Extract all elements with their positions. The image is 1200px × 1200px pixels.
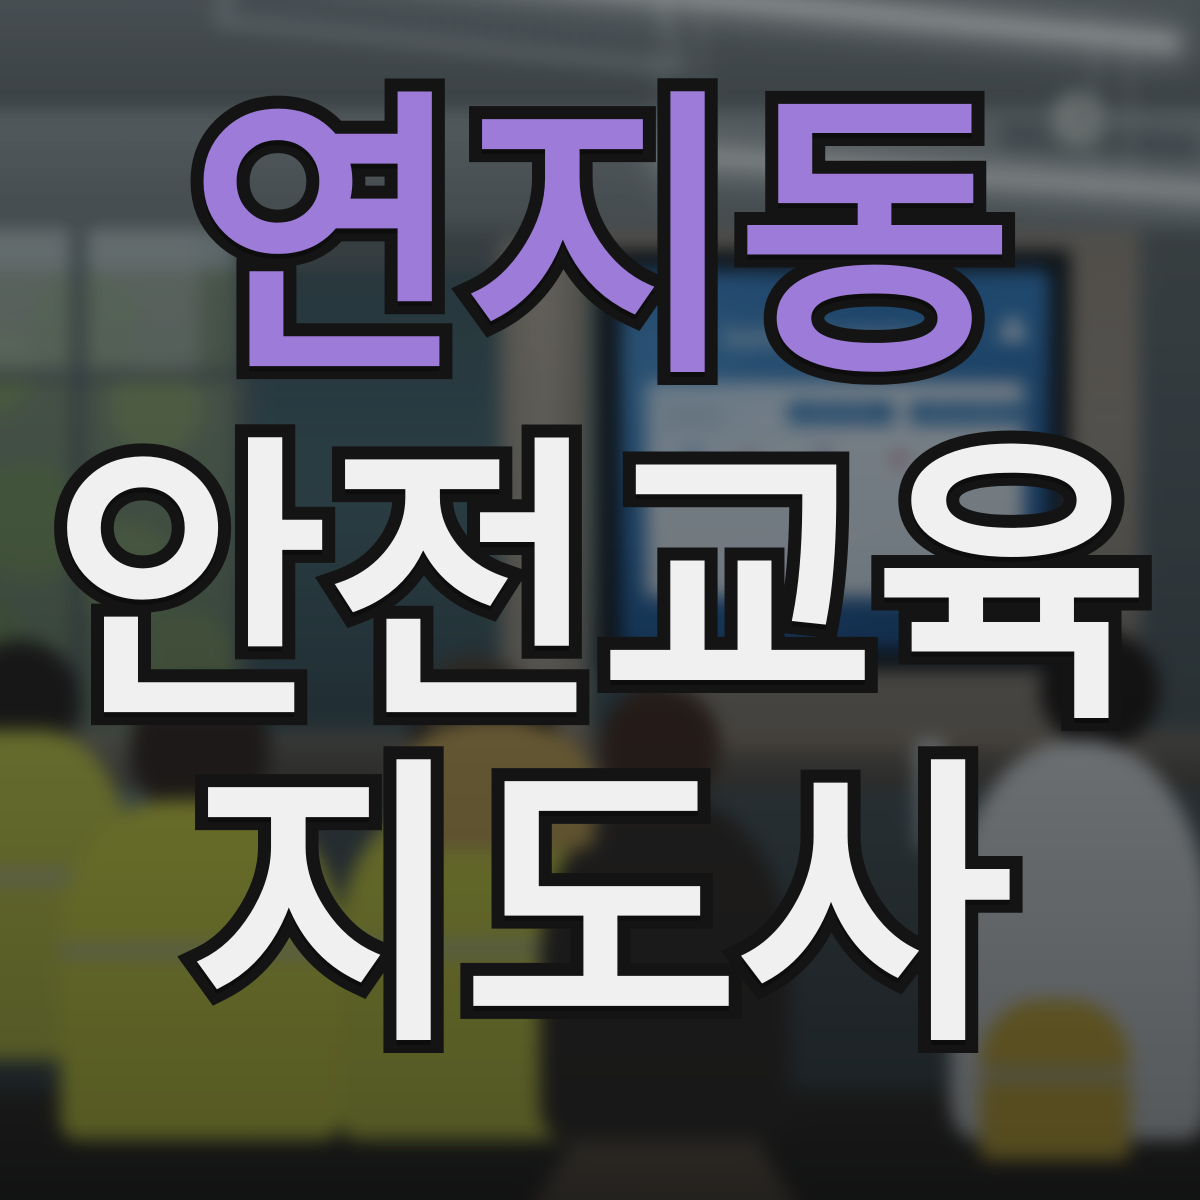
title-line-1: 연지동 <box>189 96 1011 384</box>
title-block: 연지동 안전교육 지도사 <box>0 0 1200 1200</box>
title-line-2: 안전교육 <box>52 442 1148 730</box>
poster-canvas: Safety Guidelines 기본 안전수칙 안전 수칙 확인 교육 이수… <box>0 0 1200 1200</box>
title-line-3: 지도사 <box>189 764 1011 1052</box>
